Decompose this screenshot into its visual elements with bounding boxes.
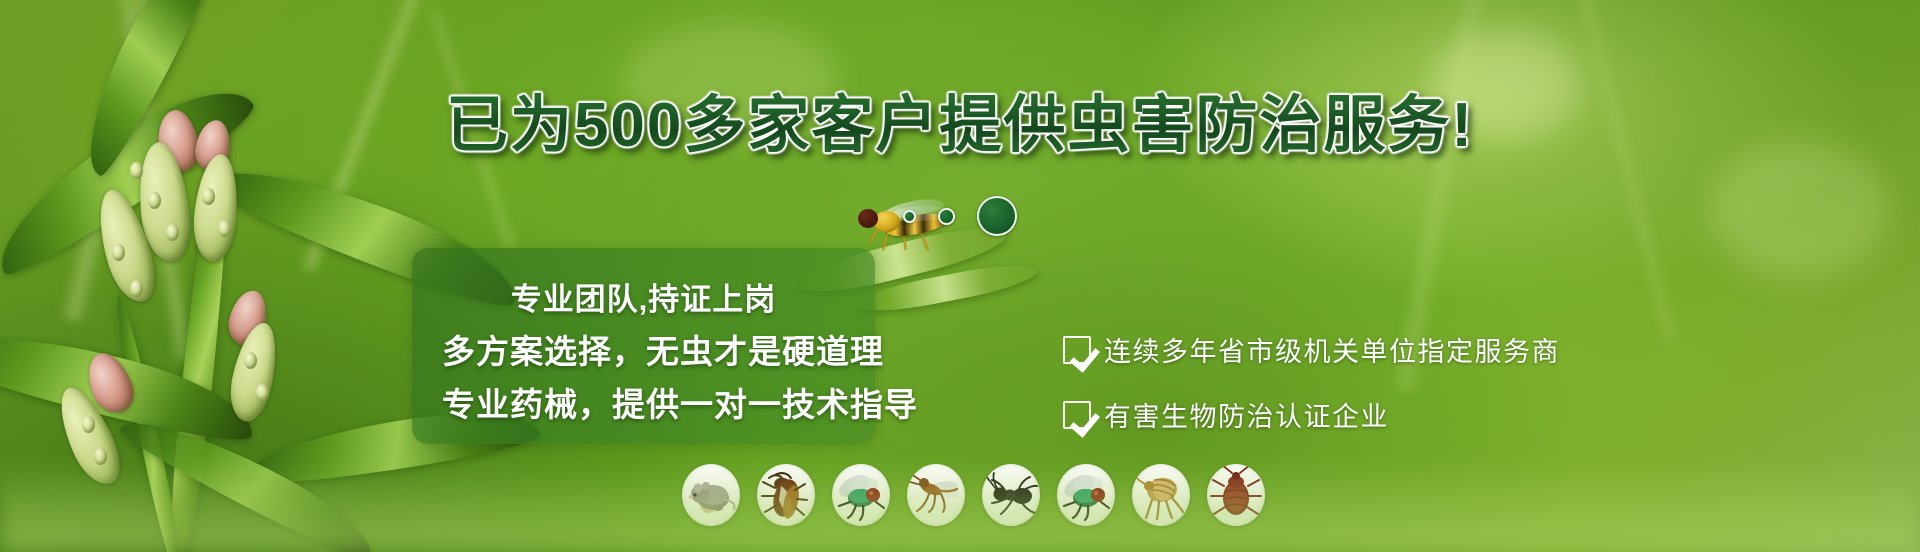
value-proposition-panel: 专业团队,持证上岗 多方案选择，无虫才是硬道理 专业药械，提供一对一技术指导: [412, 248, 875, 444]
ant-icon: [982, 464, 1040, 526]
checkbox-checked-icon: [1063, 401, 1091, 429]
greenbottle-fly-icon: [1057, 464, 1115, 526]
bedbug-icon: [1207, 464, 1265, 526]
checklist-item-label: 有害生物防治认证企业: [1104, 395, 1389, 434]
decorative-dot-group: [0, 196, 1920, 236]
panel-line-1: 专业团队,持证上岗: [442, 274, 845, 319]
list-item: 连续多年省市级机关单位指定服务商: [1063, 330, 1560, 369]
list-item: 有害生物防治认证企业: [1063, 395, 1560, 434]
credentials-checklist: 连续多年省市级机关单位指定服务商 有害生物防治认证企业: [1063, 330, 1560, 434]
cockroach-icon: [757, 464, 815, 526]
page-title: 已为500多家客户提供虫害防治服务!: [0, 74, 1920, 164]
checklist-item-label: 连续多年省市级机关单位指定服务商: [1104, 330, 1560, 369]
decor-dot-medium: [938, 208, 955, 225]
checkbox-checked-icon: [1063, 336, 1091, 364]
panel-line-3: 专业药械，提供一对一技术指导: [442, 378, 845, 426]
panel-line-2: 多方案选择，无虫才是硬道理: [442, 325, 845, 373]
decor-dot-large: [977, 196, 1017, 236]
mosquito-icon: [907, 464, 965, 526]
flea-icon: [1132, 464, 1190, 526]
housefly-icon: [832, 464, 890, 526]
decor-dot-small: [903, 210, 916, 223]
pest-control-hero-banner: 已为500多家客户提供虫害防治服务! 已为500多家客户提供虫害防治服务! 专业…: [0, 0, 1920, 552]
pest-type-icon-row: [682, 464, 1265, 526]
rodent-mouse-icon: [682, 464, 740, 526]
